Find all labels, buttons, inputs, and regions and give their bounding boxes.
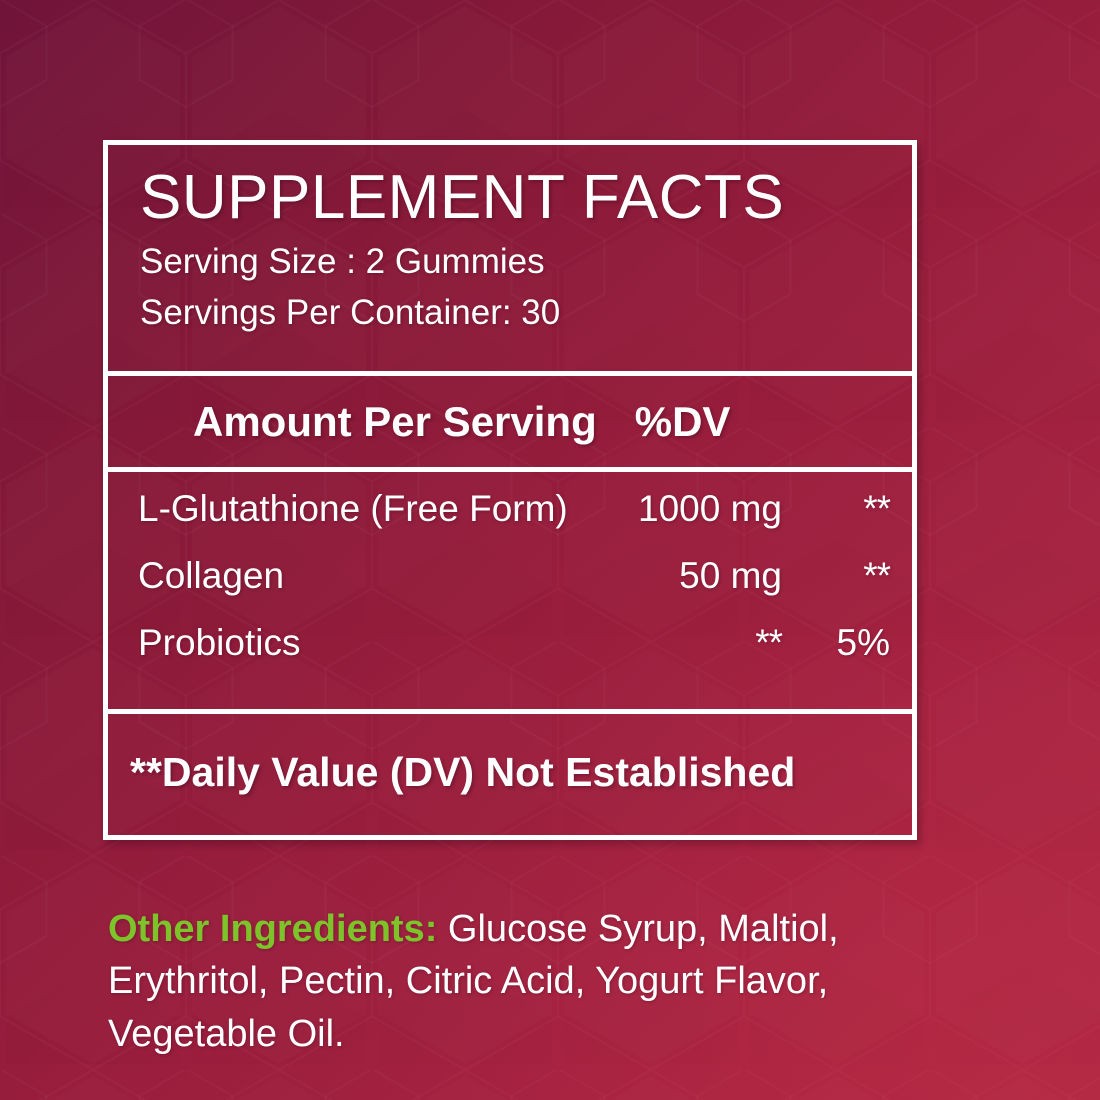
serving-size-text: Serving Size : 2 Gummies xyxy=(140,236,912,287)
table-row: Collagen 50 mg ** xyxy=(108,555,912,622)
ingredient-amount: 1000 mg xyxy=(568,488,804,530)
ingredient-daily-value: 5% xyxy=(804,622,890,664)
ingredient-daily-value: ** xyxy=(804,488,890,530)
column-header-row: Amount Per Serving %DV xyxy=(108,376,912,472)
other-ingredients-label: Other Ingredients: xyxy=(108,908,437,950)
daily-value-footnote: **Daily Value (DV) Not Established xyxy=(130,749,795,796)
table-row: Probiotics ** 5% xyxy=(108,622,912,689)
ingredient-name: Probiotics xyxy=(138,622,300,664)
other-ingredients-block: Other Ingredients: Glucose Syrup, Maltio… xyxy=(108,903,968,1060)
footnote-section: **Daily Value (DV) Not Established xyxy=(108,714,912,830)
serving-info-section: SUPPLEMENT FACTS Serving Size : 2 Gummie… xyxy=(108,145,912,376)
ingredient-amount: 50 mg xyxy=(284,555,804,597)
ingredient-name: Collagen xyxy=(138,555,284,597)
servings-per-container-text: Servings Per Container: 30 xyxy=(140,287,912,338)
daily-value-header: %DV xyxy=(635,398,731,446)
ingredient-amount: ** xyxy=(300,622,804,664)
ingredients-section: L-Glutathione (Free Form) 1000 mg ** Col… xyxy=(108,472,912,714)
amount-per-serving-header: Amount Per Serving xyxy=(193,398,597,446)
supplement-facts-label: SUPPLEMENT FACTS Serving Size : 2 Gummie… xyxy=(0,0,1100,1100)
ingredient-name: L-Glutathione (Free Form) xyxy=(138,488,568,530)
table-row: L-Glutathione (Free Form) 1000 mg ** xyxy=(108,488,912,555)
ingredient-daily-value: ** xyxy=(804,555,890,597)
supplement-facts-table: SUPPLEMENT FACTS Serving Size : 2 Gummie… xyxy=(103,140,917,840)
page-title: SUPPLEMENT FACTS xyxy=(140,165,912,232)
